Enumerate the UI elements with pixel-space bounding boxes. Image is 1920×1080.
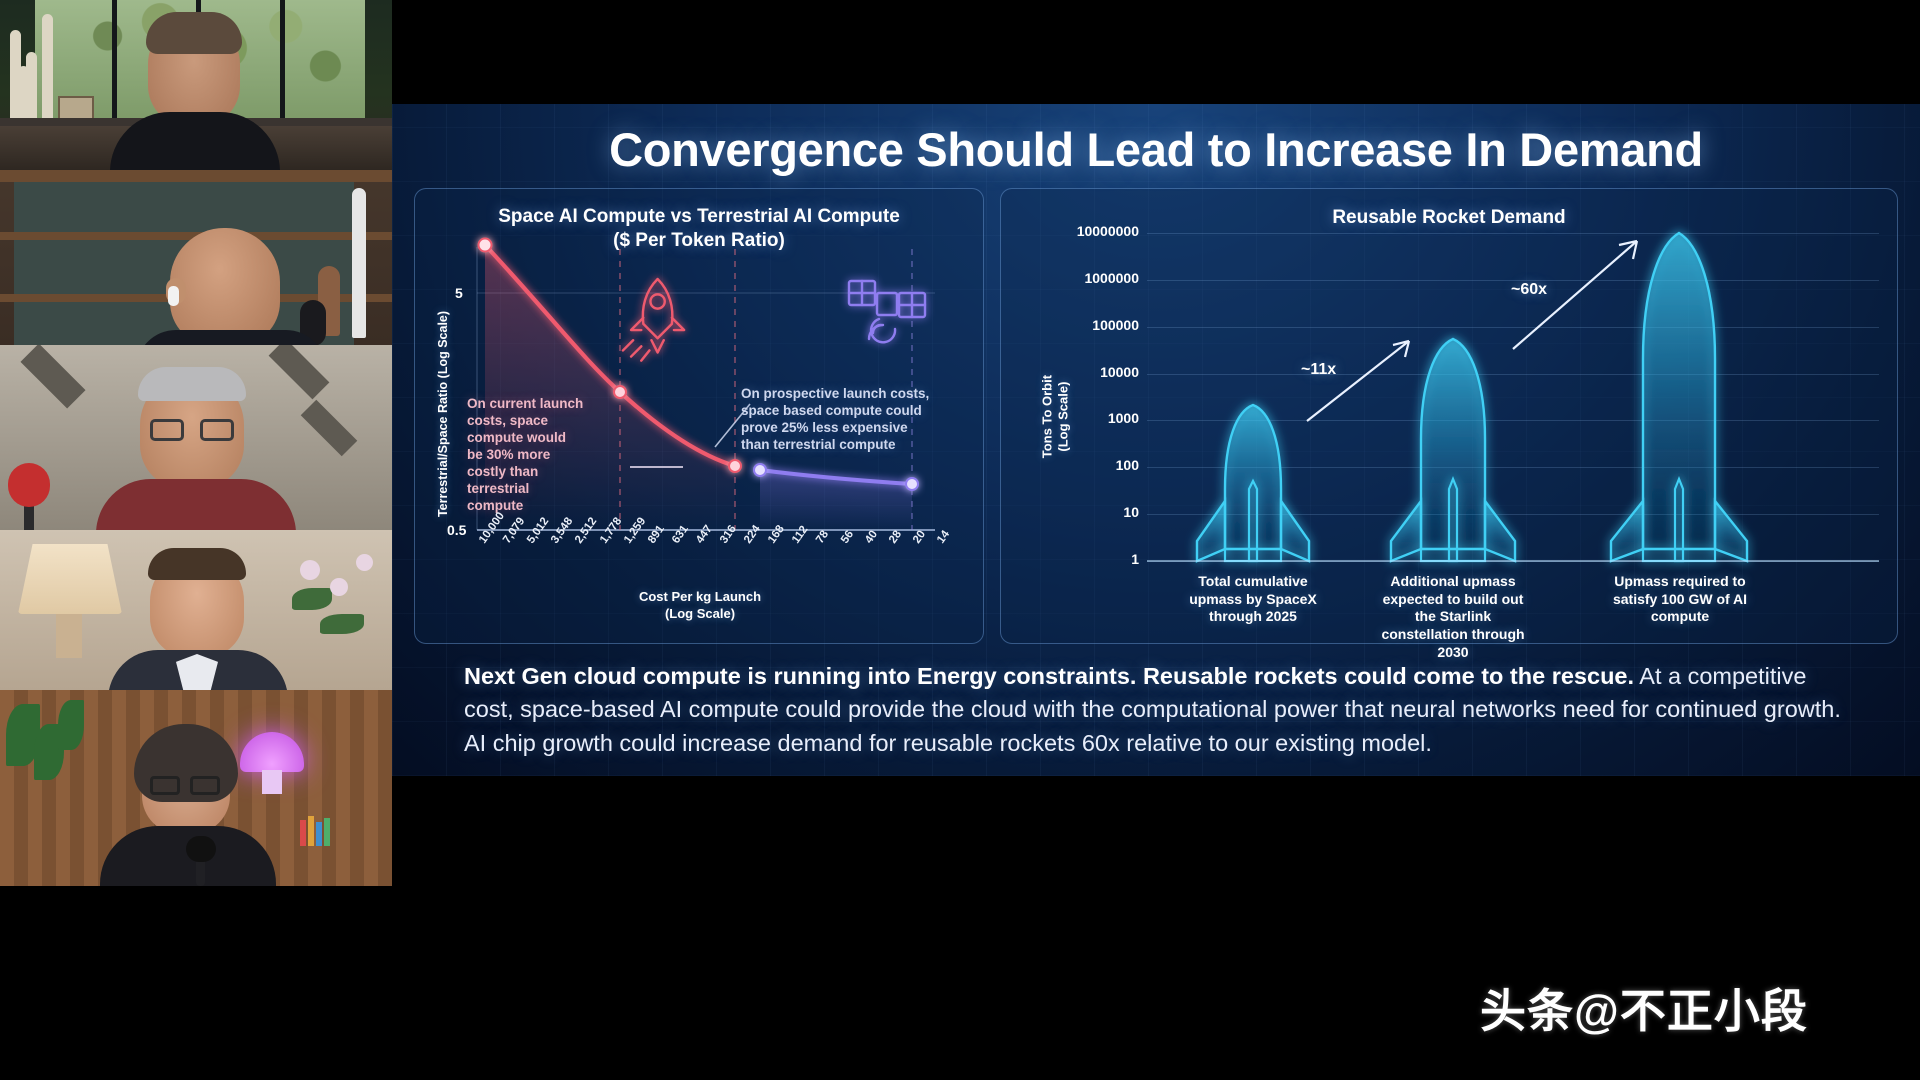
eyeglasses-lens [150, 776, 180, 795]
rocket-bar-caption-1: Total cumulative upmass by SpaceX throug… [1177, 573, 1329, 626]
lamp-base [56, 614, 82, 658]
watermark: 头条@不正小段 [1480, 975, 1900, 1037]
participant-tile-3[interactable] [0, 345, 392, 530]
microphone [8, 463, 50, 507]
left-chart-annotation-prospective: On prospective launch costs, space based… [741, 385, 931, 453]
shelf-board [0, 170, 392, 182]
growth-multiple-11x: ~11x [1301, 361, 1336, 379]
orchid-bloom [300, 560, 320, 580]
participant-torso [96, 479, 296, 530]
rocket-bar-caption-2: Additional upmass expected to build out … [1373, 573, 1533, 661]
plant-leaf [320, 614, 364, 634]
body-text-bold: Next Gen cloud compute is running into E… [464, 663, 1634, 689]
rocket-bar-3 [1611, 233, 1747, 561]
eyeglasses-lens [190, 776, 220, 795]
orchid-bloom [356, 554, 373, 571]
plant-leaf [58, 700, 84, 750]
growth-multiple-60x: ~60x [1511, 281, 1547, 299]
left-chart-panel: Space AI Compute vs Terrestrial AI Compu… [414, 188, 984, 644]
participant-hair [148, 548, 246, 580]
presentation-slide: Convergence Should Lead to Increase In D… [392, 104, 1920, 776]
participant-tile-5[interactable] [0, 690, 392, 886]
rocket-model [352, 188, 366, 338]
participant-tile-2[interactable] [0, 170, 392, 345]
participant-tile-4[interactable] [0, 530, 392, 690]
right-chart-panel: Reusable Rocket Demand Tons To Orbit (Lo… [1000, 188, 1898, 644]
window-mullion [112, 0, 117, 120]
table-lamp [18, 544, 122, 614]
orchid-bloom [330, 578, 348, 596]
window-mullion [280, 0, 285, 120]
growth-arrow-11x [1307, 341, 1409, 421]
participant-torso [136, 330, 326, 345]
rocket-bar-2 [1391, 339, 1515, 561]
participant-tile-1[interactable] [0, 0, 392, 170]
screen: Convergence Should Lead to Increase In D… [0, 0, 1920, 1080]
microphone [186, 836, 216, 862]
book [324, 818, 330, 846]
rocket-model [42, 14, 53, 126]
book [300, 820, 306, 846]
shelf-cavity [14, 182, 354, 232]
book [316, 822, 322, 846]
participant-hair [146, 12, 242, 54]
eyeglasses-lens [150, 419, 184, 441]
plant-leaf [292, 588, 332, 610]
screen-share-area: Convergence Should Lead to Increase In D… [392, 0, 1920, 1080]
rocket-model [18, 66, 29, 126]
rocket-bar-1 [1197, 405, 1309, 561]
slide-title: Convergence Should Lead to Increase In D… [392, 122, 1920, 177]
earbud [168, 286, 179, 306]
participant-hair [138, 367, 246, 401]
mushroom-lamp-stem [262, 770, 282, 794]
rocket-bar-caption-3: Upmass required to satisfy 100 GW of AI … [1601, 573, 1759, 626]
left-chart-annotation-current: On current launch costs, space compute w… [467, 395, 585, 514]
video-call-strip [0, 0, 392, 886]
book [308, 816, 314, 846]
left-chart-plot: Terrestrial/Space Ratio (Log Scale) Cost… [415, 189, 985, 645]
right-chart-plot: Tons To Orbit (Log Scale) 10000000100000… [1001, 189, 1899, 645]
participant-face [170, 228, 280, 345]
eyeglasses-lens [200, 419, 234, 441]
slide-body-text: Next Gen cloud compute is running into E… [464, 660, 1854, 760]
